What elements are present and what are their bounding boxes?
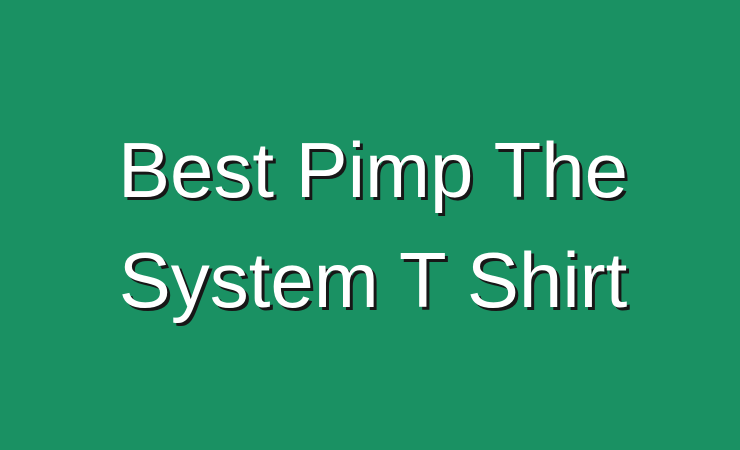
placeholder-banner: Best Pimp The System T Shirt: [0, 0, 740, 450]
banner-title: Best Pimp The System T Shirt: [0, 115, 740, 335]
